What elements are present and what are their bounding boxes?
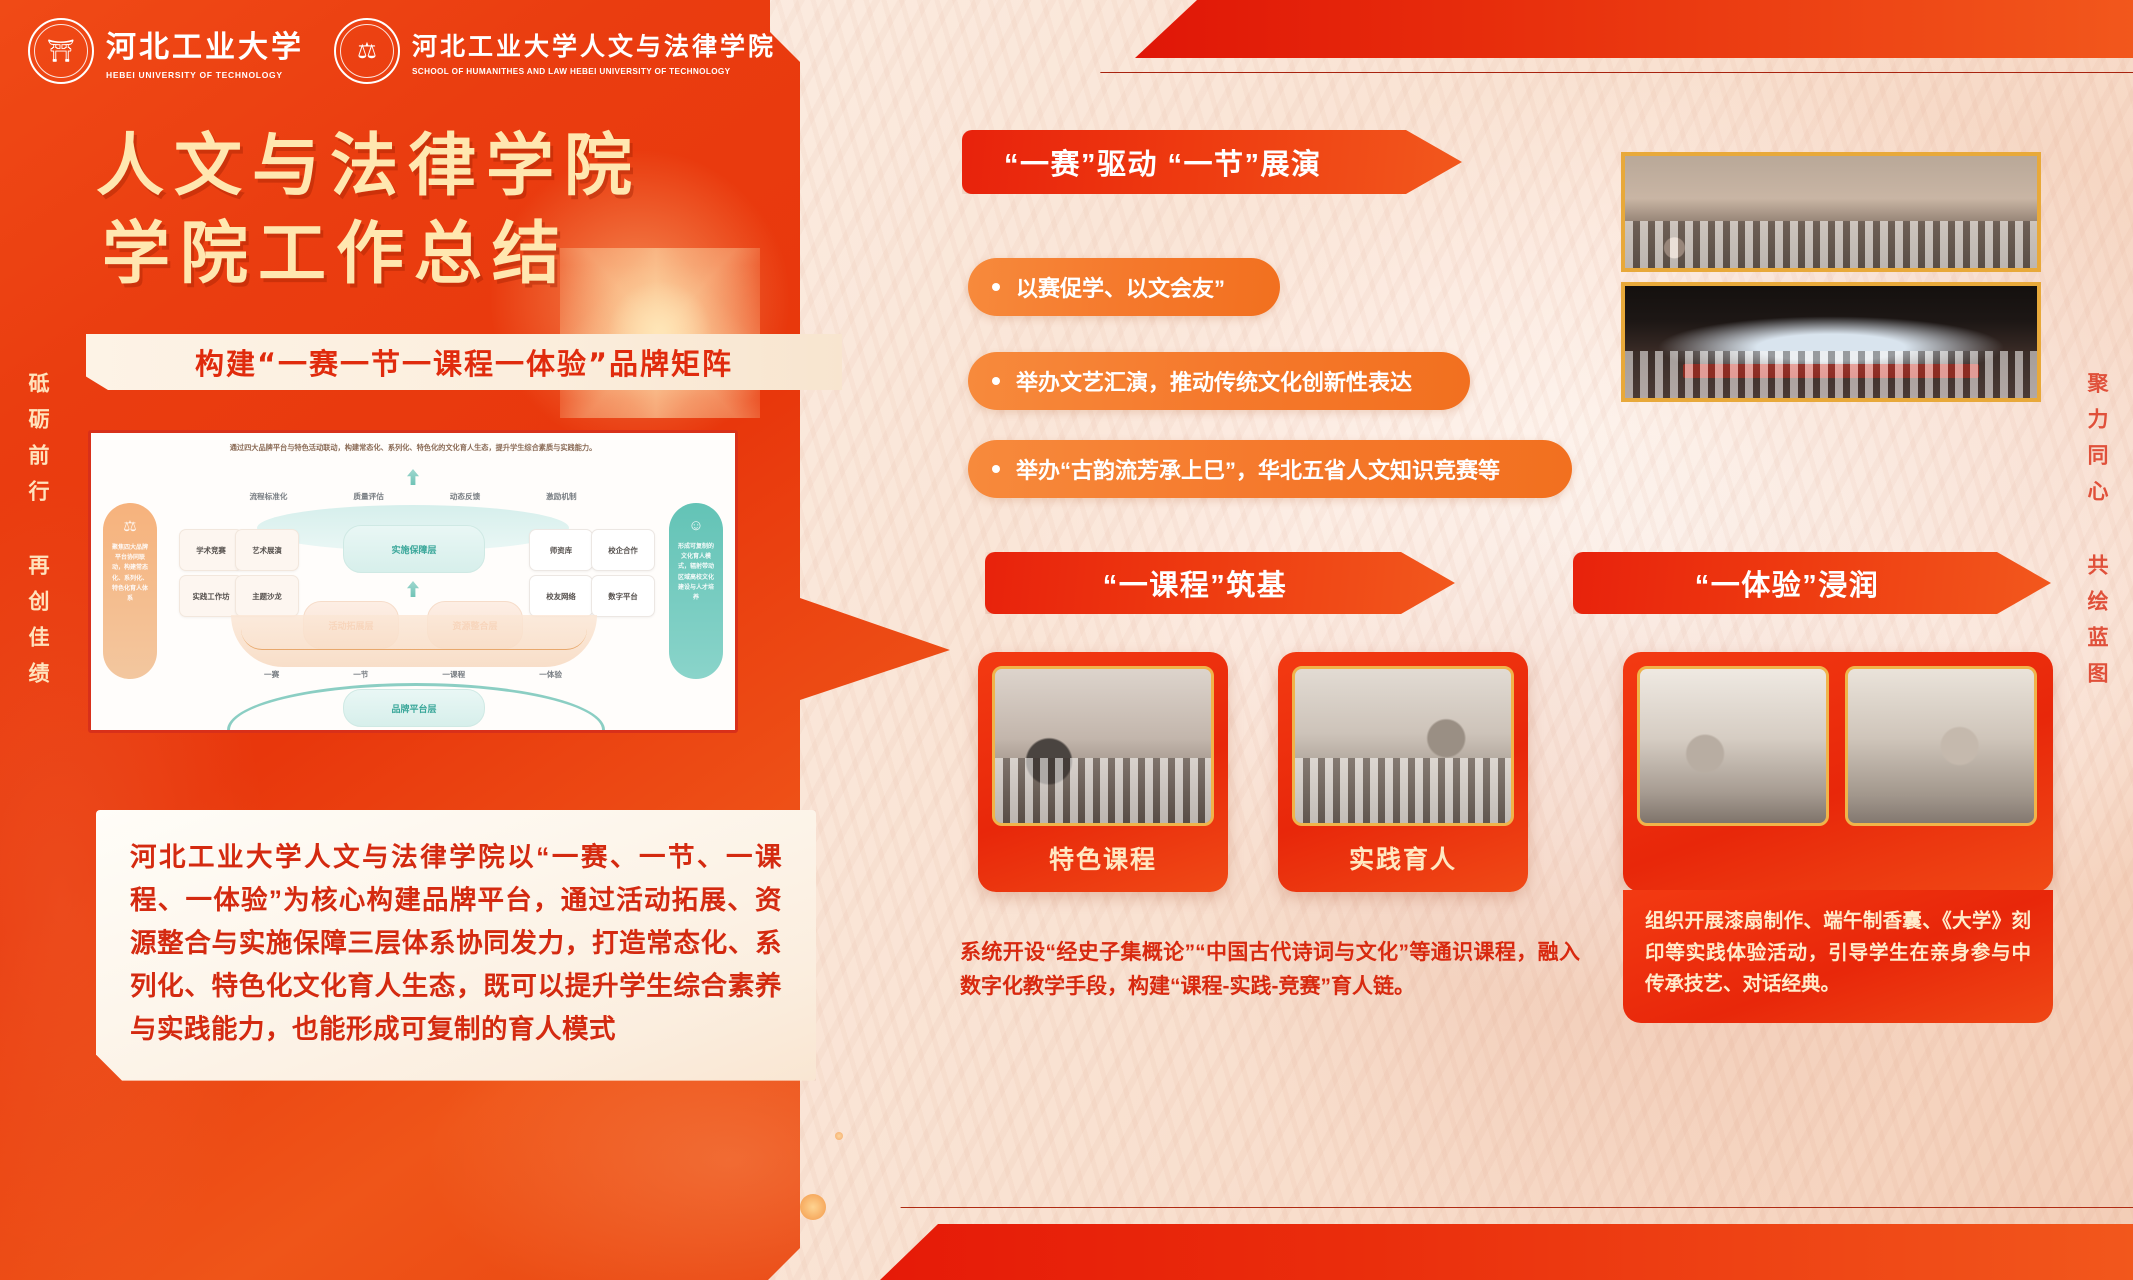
list-item: 以赛促学、以文会友”	[968, 258, 1280, 316]
seal-carving-workshop-photo	[1845, 666, 2037, 826]
diagram-layer-implementation: 实施保障层	[343, 525, 485, 573]
university-logo: ⛩ 河北工业大学 HEBEI UNIVERSITY OF TECHNOLOGY	[28, 18, 304, 84]
stage-performance-photo	[1621, 282, 2041, 402]
diagram-bottom-label: 一赛	[264, 669, 279, 680]
diagram-top-label: 激励机制	[546, 491, 576, 502]
diagram-side-right: ☺ 形成可复制的文化育人模式，辐射带动区域高校文化建设与人才培养	[669, 503, 723, 679]
diagram-arrow-up-icon	[407, 469, 419, 485]
title-line-1: 人文与法律学院	[96, 126, 642, 206]
diagram-bottom-labels: 一赛 一节 一课程 一体验	[91, 669, 735, 680]
diagram-box: 师资库	[529, 529, 593, 571]
diagram-top-labels: 流程标准化 质量评估 动态反馈 激励机制	[91, 491, 735, 502]
logo-bar: ⛩ 河北工业大学 HEBEI UNIVERSITY OF TECHNOLOGY …	[28, 18, 776, 84]
bullet-dot-icon	[992, 283, 1000, 291]
bullet-label: 举办文艺汇演，推动传统文化创新性表达	[1016, 365, 1412, 397]
vertical-slogan-right: 聚力同心 共绘蓝图	[2081, 372, 2111, 698]
scales-icon: ⚖	[123, 517, 136, 535]
university-seal-icon: ⛩	[28, 18, 94, 84]
bullet-label: 举办“古韵流芳承上巳”，华北五省人文知识竞赛等	[1016, 453, 1500, 485]
summary-paragraph-text: 河北工业大学人文与法律学院以“一赛、一节、一课程、一体验”为核心构建品牌平台，通…	[130, 836, 782, 1051]
lacquer-fan-workshop-photo	[1637, 666, 1829, 826]
campus-activity-photo	[1621, 152, 2041, 272]
section-ribbon-course-label: “一课程”筑基	[1103, 562, 1288, 604]
diagram-box: 主题沙龙	[235, 575, 299, 617]
bottom-decor-bar	[880, 1224, 2133, 1280]
diagram-bottom-label: 一节	[353, 669, 368, 680]
course-card-practice: 实践育人	[1278, 652, 1528, 892]
diagram-arrow-up-icon	[407, 581, 419, 597]
lightbulb-icon: ☺	[688, 517, 703, 534]
poster-root: ⛩ 河北工业大学 HEBEI UNIVERSITY OF TECHNOLOGY …	[0, 0, 2133, 1280]
page-title: 人文与法律学院 学院工作总结	[96, 126, 642, 294]
school-name-cn: 河北工业大学人文与法律学院	[412, 27, 776, 63]
experience-description: 组织开展漆扇制作、端午制香囊、《大学》刻印等实践体验活动，引导学生在亲身参与中传…	[1623, 890, 2053, 1023]
diagram-sweep-line	[241, 629, 587, 650]
title-line-2: 学院工作总结	[102, 214, 642, 294]
diagram-box: 艺术展演	[235, 529, 299, 571]
framework-diagram: 通过四大品牌平台与特色活动联动，构建常态化、系列化、特色化的文化育人生态，提升学…	[88, 430, 738, 733]
bullet-dot-icon	[992, 377, 1000, 385]
course-description-text: 系统开设“经史子集概论”“中国古代诗词与文化”等通识课程，融入数字化教学手段，构…	[960, 941, 1580, 998]
decor-orb	[800, 1194, 826, 1220]
top-decor-bar	[1135, 0, 2133, 58]
course-description: 系统开设“经史子集概论”“中国古代诗词与文化”等通识课程，融入数字化教学手段，构…	[960, 936, 1580, 1004]
photo-caption: 实践育人	[1278, 840, 1528, 876]
diagram-box: 校企合作	[591, 529, 655, 571]
bullet-label: 以赛促学、以文会友”	[1016, 271, 1225, 303]
school-name-en: SCHOOL OF HUMANITHES AND LAW HEBEI UNIVE…	[412, 67, 776, 76]
diagram-box: 实践工作坊	[179, 575, 243, 617]
diagram-bottom-label: 一体验	[539, 669, 562, 680]
section-ribbon-competition: “一赛”驱动 “一节”展演	[962, 130, 1462, 194]
section-ribbon-experience: “一体验”浸润	[1573, 552, 2051, 614]
list-item: 举办“古韵流芳承上巳”，华北五省人文知识竞赛等	[968, 440, 1572, 498]
school-logo: ⚖ 河北工业大学人文与法律学院 SCHOOL OF HUMANITHES AND…	[334, 18, 776, 84]
section-ribbon-experience-label: “一体验”浸润	[1695, 562, 1880, 604]
university-name-cn: 河北工业大学	[106, 22, 304, 66]
subtitle-banner: 构建“一赛一节一课程一体验”品牌矩阵	[86, 334, 842, 390]
diagram-side-right-text: 形成可复制的文化育人模式，辐射带动区域高校文化建设与人才培养	[676, 542, 716, 603]
summary-paragraph-card: 河北工业大学人文与法律学院以“一赛、一节、一课程、一体验”为核心构建品牌平台，通…	[96, 810, 816, 1081]
diagram-top-label: 质量评估	[353, 491, 383, 502]
diagram-side-left: ⚖ 聚焦四大品牌平台协同联动，构建常态化、系列化、特色化育人体系	[103, 503, 157, 679]
diagram-top-label: 动态反馈	[450, 491, 480, 502]
bullet-dot-icon	[992, 465, 1000, 473]
university-name-en: HEBEI UNIVERSITY OF TECHNOLOGY	[106, 70, 304, 80]
diagram-box: 数字平台	[591, 575, 655, 617]
subtitle-banner-label: 构建“一赛一节一课程一体验”品牌矩阵	[195, 341, 733, 383]
vertical-slogan-left: 砥砺前行 再创佳绩	[22, 372, 52, 698]
experience-photo-card	[1623, 652, 2053, 892]
diagram-side-left-text: 聚焦四大品牌平台协同联动，构建常态化、系列化、特色化育人体系	[110, 543, 150, 604]
practice-education-photo	[1292, 666, 1514, 826]
decor-orb	[835, 1132, 843, 1140]
section-ribbon-competition-label: “一赛”驱动 “一节”展演	[1004, 141, 1322, 183]
diagram-layer-brand: 品牌平台层	[343, 689, 485, 727]
course-card-featured: 特色课程	[978, 652, 1228, 892]
section-ribbon-course: “一课程”筑基	[985, 552, 1455, 614]
diagram-top-note: 通过四大品牌平台与特色活动联动，构建常态化、系列化、特色化的文化育人生态，提升学…	[213, 442, 613, 453]
photo-caption: 特色课程	[978, 840, 1228, 876]
list-item: 举办文艺汇演，推动传统文化创新性表达	[968, 352, 1470, 410]
scales-of-justice-seal-icon: ⚖	[334, 18, 400, 84]
diagram-box: 校友网络	[529, 575, 593, 617]
diagram-box: 学术竞赛	[179, 529, 243, 571]
diagram-bottom-label: 一课程	[442, 669, 465, 680]
featured-course-photo	[992, 666, 1214, 826]
diagram-top-label: 流程标准化	[249, 491, 287, 502]
